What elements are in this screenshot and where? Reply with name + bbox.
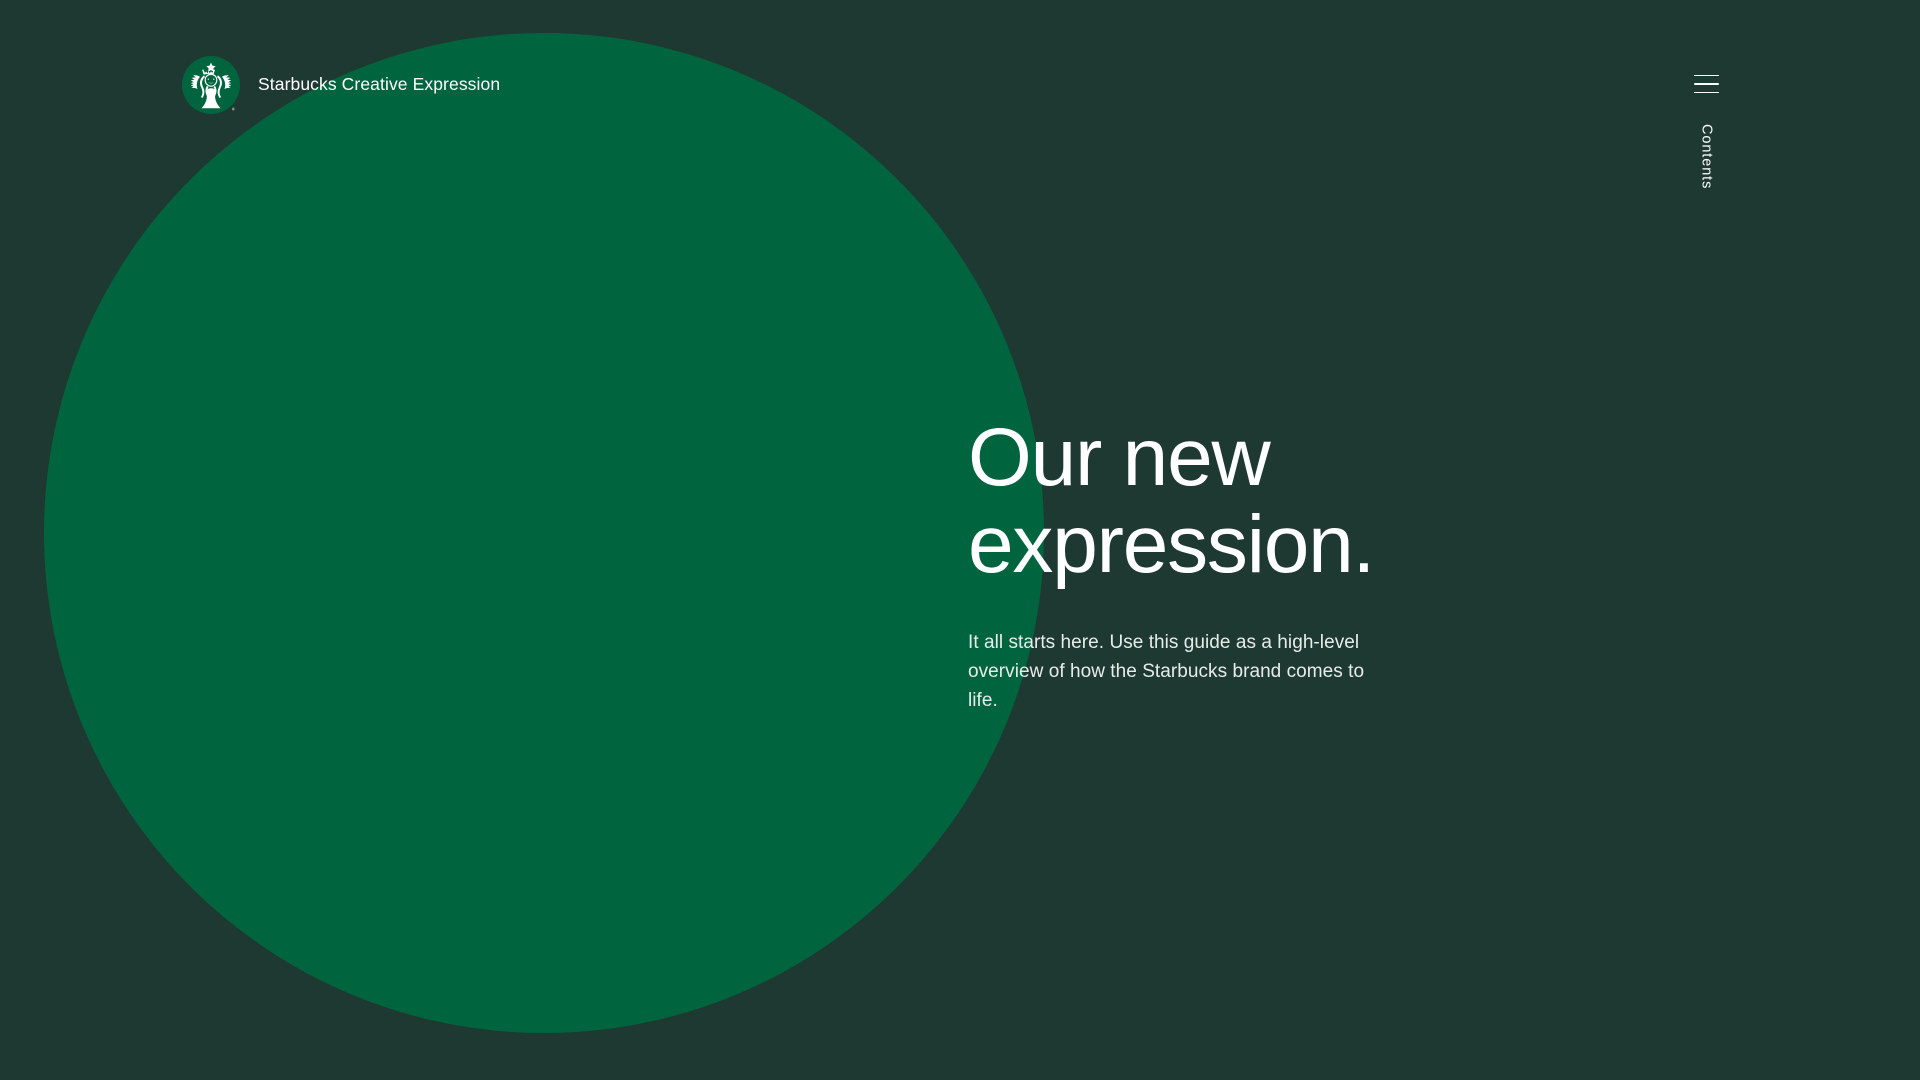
hamburger-bar-top <box>1694 75 1719 77</box>
site-header: ® Starbucks Creative Expression Contents <box>0 0 1920 170</box>
page-root: ® Starbucks Creative Expression Contents… <box>0 0 1920 1080</box>
starbucks-siren-icon: ® <box>182 56 240 114</box>
contents-link[interactable]: Contents <box>1699 124 1714 189</box>
hamburger-bar-bottom <box>1694 92 1719 94</box>
brand-circle-graphic <box>44 33 1044 1033</box>
hamburger-bar-middle <box>1694 83 1719 85</box>
brand-lockup[interactable]: ® Starbucks Creative Expression <box>182 56 500 114</box>
hero-section: Our new expression. It all starts here. … <box>968 415 1448 715</box>
hamburger-menu-icon[interactable] <box>1692 70 1720 98</box>
hero-description: It all starts here. Use this guide as a … <box>968 589 1388 716</box>
svg-text:®: ® <box>232 107 235 112</box>
menu-cluster: Contents <box>1686 70 1726 189</box>
brand-title: Starbucks Creative Expression <box>258 76 500 94</box>
page-title: Our new expression. <box>968 415 1448 589</box>
